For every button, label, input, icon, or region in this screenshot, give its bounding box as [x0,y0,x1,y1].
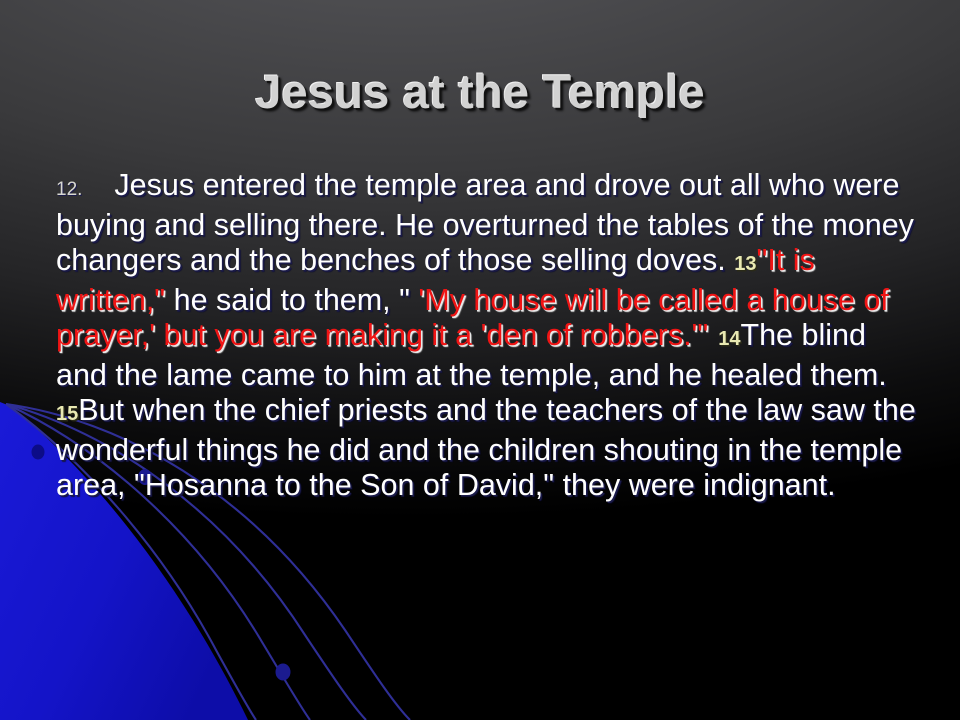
decor-node-left [32,445,45,460]
scripture-paragraph: 12.Jesus entered the temple area and dro… [56,168,916,504]
verse-number-13: 13 [734,253,756,275]
decor-node-lower [276,664,291,681]
verse-number-14: 14 [718,328,740,350]
body-text-block: 12.Jesus entered the temple area and dro… [56,168,916,504]
segment-white-4: But when the chief priests and the teach… [56,393,916,502]
verse-number-15: 15 [56,403,78,425]
page-title: Jesus at the Temple [0,64,960,119]
presentation-slide: Jesus at the Temple 12.Jesus entered the… [0,0,960,720]
list-marker: 12. [56,179,82,200]
segment-white-2: he said to them, " [165,283,418,317]
